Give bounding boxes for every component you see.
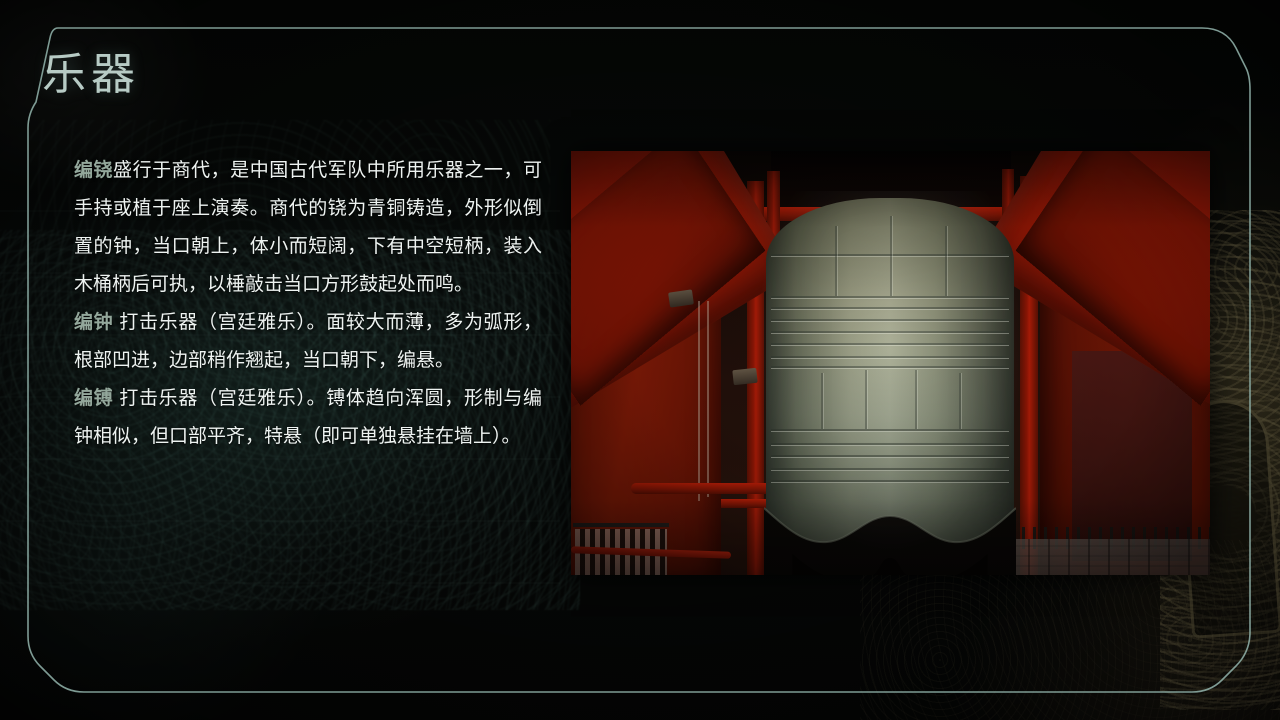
paragraph-bianbo-text: 打击乐器（宫廷雅乐）。镈体趋向浑圆，形制与编钟相似，但口部平齐，特悬（即可单独悬… — [74, 388, 542, 447]
bell-tower-photo — [571, 151, 1210, 575]
term-bianzhong: 编钟 — [74, 312, 113, 333]
paragraph-bianrao-text: 盛行于商代，是中国古代军队中所用乐器之一，可手持或植于座上演奏。商代的铙为青铜铸… — [74, 160, 542, 295]
bell-mouth-scallop — [764, 492, 1016, 575]
balcony-frame — [573, 523, 669, 527]
red-handrail-left — [631, 483, 781, 494]
term-bianbo: 编镈 — [74, 388, 113, 409]
photo-illustration — [571, 151, 1210, 575]
paragraph-bianzhong: 编钟 打击乐器（宫廷雅乐）。面较大而薄，多为弧形，根部凹进，边部稍作翘起，当口朝… — [74, 304, 542, 380]
term-bianrao: 编铙 — [74, 160, 113, 181]
page-title: 乐器 — [42, 38, 140, 102]
suspension-rope-1 — [698, 301, 700, 501]
slide-root: 乐器 编铙盛行于商代，是中国古代军队中所用乐器之一，可手持或植于座上演奏。商代的… — [0, 0, 1280, 720]
wall-lamp-lower — [732, 368, 757, 385]
paragraph-bianbo: 编镈 打击乐器（宫廷雅乐）。镈体趋向浑圆，形制与编钟相似，但口部平齐，特悬（即可… — [74, 380, 542, 456]
body-text-block: 编铙盛行于商代，是中国古代军队中所用乐器之一，可手持或植于座上演奏。商代的铙为青… — [74, 152, 542, 456]
paragraph-bianzhong-text: 打击乐器（宫廷雅乐）。面较大而薄，多为弧形，根部凹进，边部稍作翘起，当口朝下，编… — [74, 312, 542, 371]
suspension-rope-2 — [707, 301, 709, 497]
bronze-bell — [766, 198, 1014, 548]
paragraph-bianrao: 编铙盛行于商代，是中国古代军队中所用乐器之一，可手持或植于座上演奏。商代的铙为青… — [74, 152, 542, 304]
brick-floor-right — [1010, 539, 1210, 575]
